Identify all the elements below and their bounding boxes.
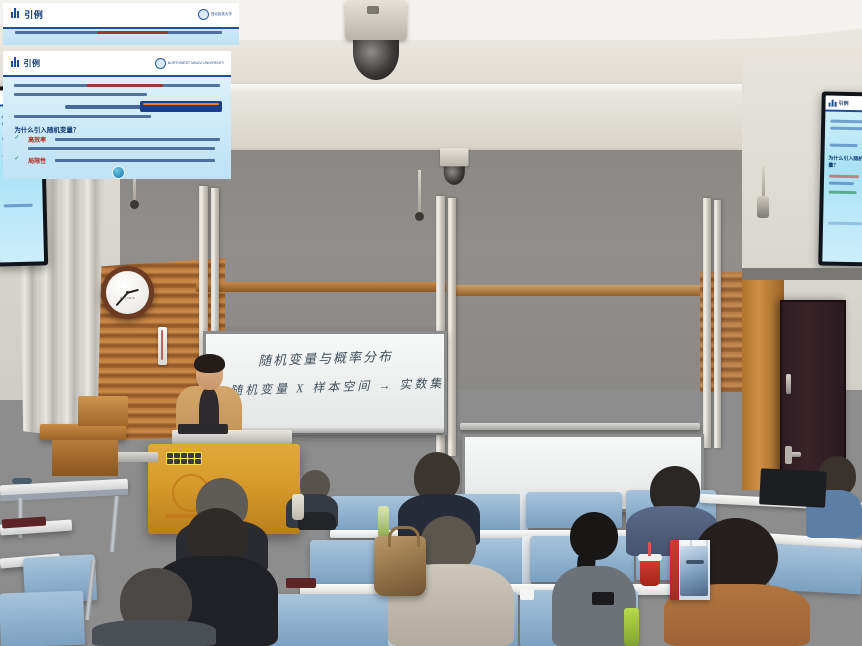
- slide-bullet-1-text-line-a: [55, 138, 219, 141]
- presenter-hair: [194, 354, 225, 373]
- ceiling-hanger-rod-3: [762, 166, 765, 196]
- monitor-right-title: 引例: [839, 99, 849, 106]
- handbag-strap: [388, 526, 420, 547]
- attendee-ponytail-head: [570, 512, 618, 560]
- slide-bullet-1-text-line-b: [28, 147, 215, 150]
- green-thermos-front[interactable]: [624, 608, 639, 646]
- whiteboard-handwriting-line-1: 随机变量与概率分布: [258, 346, 394, 370]
- side-table-body: [52, 440, 118, 476]
- whiteboard-handwriting-line-2: 随机变量 X 样本空间 → 实数集: [230, 374, 445, 398]
- dome-security-camera-right: [440, 148, 469, 185]
- university-name: 西北民族大学: [211, 12, 232, 16]
- slide-body-line-3: [14, 115, 151, 118]
- slide-left-title: 引例: [24, 8, 43, 21]
- monitor-right-bullet-green: [829, 191, 857, 195]
- slide-question-heading: 为什么引入随机变量？: [14, 124, 79, 134]
- ceiling-hanger-knob-1: [130, 200, 139, 209]
- side-table-top: [40, 424, 126, 440]
- bar-chart-icon: [11, 56, 22, 67]
- slide-bullet-2-marker: ✓: [14, 156, 19, 162]
- monitor-right-line: [830, 144, 858, 148]
- slide-right-header: 引例 NORTHWEST MINZU UNIVERSITY: [3, 51, 231, 77]
- slide-body-line-2: [14, 93, 146, 96]
- ceiling-speaker: [757, 196, 769, 218]
- front-seat-left-2[interactable]: [0, 591, 85, 646]
- lecture-hall-photo: 西北民族大学 引例 为什么引入随机变量？: [0, 0, 862, 646]
- wood-trim-left: [196, 282, 446, 292]
- university-logo-right: NORTHWEST MINZU UNIVERSITY: [155, 58, 224, 69]
- wall-clock: POLARIS 2:37: [101, 266, 154, 319]
- dome-security-camera-center: [345, 0, 407, 80]
- podium-monitor[interactable]: [178, 424, 228, 434]
- bar-chart-icon: [829, 99, 837, 107]
- support-column-6: [714, 200, 721, 448]
- wood-trim-right: [450, 285, 720, 296]
- slide-bullet-2-text-line: [55, 159, 215, 162]
- monitor-left-line: [4, 204, 33, 208]
- wall-thermometer: [158, 327, 167, 365]
- university-seal: [155, 58, 166, 69]
- slide-right: 引例 NORTHWEST MINZU UNIVERSITY 经典概型与随机变量定…: [3, 51, 231, 179]
- slide-globe-icon: [112, 166, 125, 179]
- desk-item-pen: [12, 478, 32, 484]
- leather-handbag[interactable]: [374, 536, 426, 596]
- side-cabinet: [78, 396, 128, 426]
- projection-screen-left[interactable]: 引例 西北民族大学: [0, 0, 242, 48]
- door-handle[interactable]: [786, 374, 791, 394]
- monitor-right-line: [830, 127, 862, 131]
- monitor-right-slide-header: 引例: [825, 96, 862, 113]
- whiteboard-right-text: [465, 437, 466, 438]
- door-frame: [742, 278, 784, 490]
- bar-chart-icon: [11, 7, 22, 18]
- bag-face-print: [680, 546, 708, 596]
- camera-dome-lens: [353, 40, 399, 80]
- cup-straw: [648, 542, 651, 556]
- university-seal: [198, 9, 209, 20]
- bag-red-stripe: [670, 540, 679, 600]
- wallet-on-shelf[interactable]: [286, 578, 316, 588]
- ceiling-hanger-knob-2: [415, 212, 424, 221]
- support-column-4: [448, 198, 456, 456]
- paper-cup-on-desk[interactable]: [520, 588, 534, 600]
- control-keypad[interactable]: [166, 452, 202, 465]
- slide-right-title: 引例: [24, 58, 41, 69]
- monitor-right-line: [828, 222, 862, 226]
- side-monitor-right[interactable]: 引例 为什么引入随机变量？: [818, 91, 862, 266]
- red-drink-cup[interactable]: [640, 560, 660, 586]
- camera-housing: [345, 0, 407, 40]
- slide-left: 引例 西北民族大学: [3, 3, 239, 45]
- green-water-bottle[interactable]: [378, 506, 389, 538]
- callout-text-line: [143, 103, 219, 105]
- slide-callout-badge: [140, 101, 222, 113]
- slide-bullet-1-label: 高效率: [28, 135, 46, 144]
- ceiling-hanger-rod-2: [418, 170, 421, 212]
- front-desk-1-leg: [110, 496, 120, 552]
- thermometer-mercury: [161, 330, 163, 360]
- seat-right-1[interactable]: [769, 544, 862, 595]
- clock-brand: POLARIS: [120, 296, 135, 300]
- university-name-en: NORTHWEST MINZU UNIVERSITY: [168, 61, 224, 65]
- camera-housing: [440, 148, 469, 166]
- clock-face: POLARIS 2:37: [106, 271, 149, 314]
- bag-print-eye: [686, 560, 704, 564]
- smartphone-on-desk[interactable]: [592, 592, 614, 605]
- seat-row-c-1[interactable]: [268, 594, 390, 646]
- clock-hour-hand: [127, 288, 139, 293]
- monitor-right-line: [830, 120, 862, 124]
- projection-screen-right[interactable]: 引例 NORTHWEST MINZU UNIVERSITY 经典概型与随机变量定…: [0, 48, 234, 182]
- whiteboard-tray-right-upper: [460, 423, 700, 430]
- tea-thermos[interactable]: [292, 494, 304, 520]
- monitor-right-line: [829, 182, 854, 186]
- monitor-on-desk-right: [759, 468, 827, 507]
- door-header-trim: [742, 268, 862, 280]
- monitor-right-bullet-red: [829, 175, 859, 179]
- monitor-right-question: 为什么引入随机变量？: [828, 155, 862, 170]
- university-logo-left: 西北民族大学: [198, 9, 232, 20]
- attendee-left-gray-torso: [92, 620, 216, 646]
- slide-bullet-2-label: 局限性: [28, 156, 46, 165]
- slide-left-body-highlight: [97, 31, 168, 34]
- camera-mount-plate: [367, 6, 379, 14]
- slide-left-header: 引例 西北民族大学: [3, 3, 239, 29]
- door-lock-plate: [785, 446, 792, 464]
- slide-body-line-1-highlight: [87, 84, 162, 87]
- shopping-bag-with-face-print[interactable]: [670, 540, 710, 600]
- slide-bullet-1-marker: ✓: [14, 135, 19, 141]
- support-column-5: [703, 198, 711, 448]
- camera-dome-lens: [444, 166, 465, 184]
